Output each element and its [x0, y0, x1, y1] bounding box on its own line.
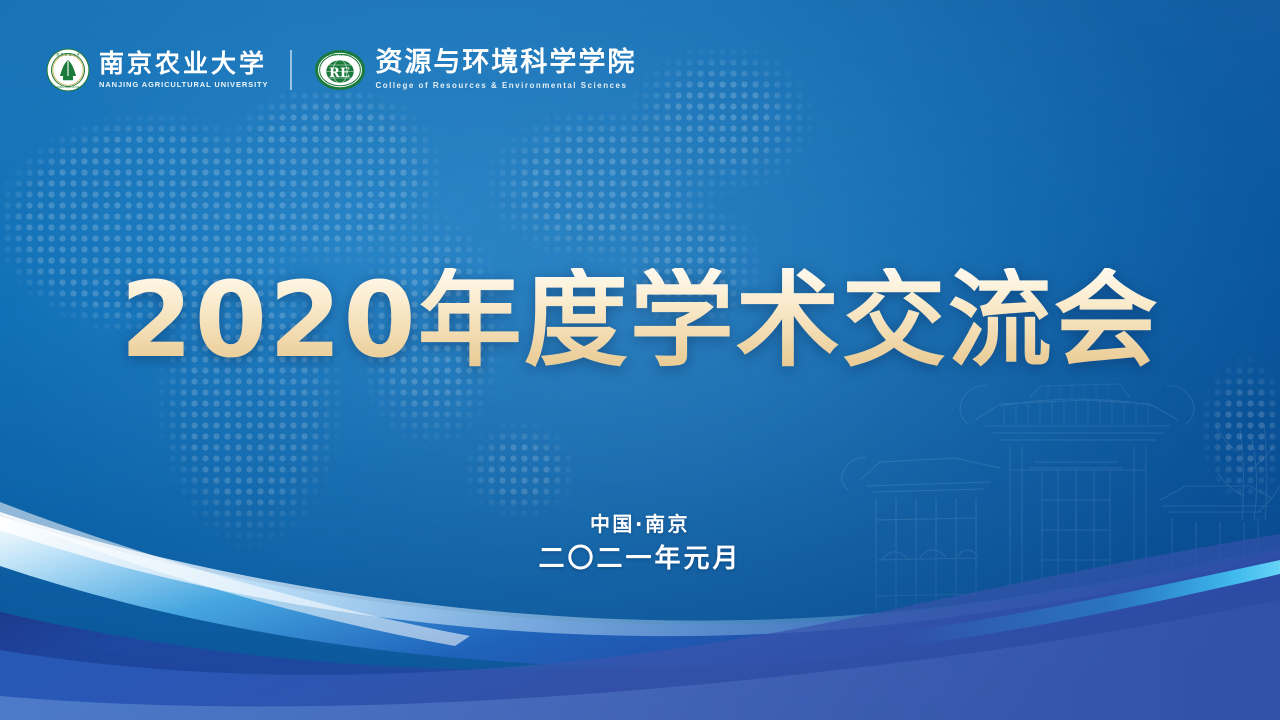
header-logos: 南 京 农 业 大 学 NANJING AGRICULTURAL 南京农业大学 …	[46, 48, 636, 92]
svg-text:E: E	[340, 66, 350, 81]
main-title-block: 2020年度学术交流会	[0, 268, 1280, 372]
college-name-en: College of Resources & Environmental Sci…	[375, 81, 636, 91]
svg-text:R: R	[329, 66, 340, 81]
logo-divider	[290, 50, 292, 90]
college-logo[interactable]: R E RESOURCES ENVIRONMENT 资源与环境科学学院 Coll…	[314, 49, 636, 91]
svg-text:南 京 农 业 大 学: 南 京 农 业 大 学	[56, 52, 79, 57]
subtitle-date: 二〇二一年元月	[0, 543, 1280, 577]
subtitle-location: 中国·南京	[0, 512, 1280, 537]
nanjing-agricultural-university-emblem-icon: 南 京 农 业 大 学 NANJING AGRICULTURAL	[46, 48, 90, 92]
svg-text:NANJING AGRICULTURAL: NANJING AGRICULTURAL	[54, 86, 83, 89]
university-logo[interactable]: 南 京 农 业 大 学 NANJING AGRICULTURAL 南京农业大学 …	[46, 48, 268, 92]
university-name-cn: 南京农业大学	[99, 51, 268, 77]
poster-slide: 南 京 农 业 大 学 NANJING AGRICULTURAL 南京农业大学 …	[0, 0, 1280, 720]
resources-environment-re-emblem-icon: R E RESOURCES ENVIRONMENT	[314, 49, 366, 91]
svg-text:RESOURCES ENVIRONMENT: RESOURCES ENVIRONMENT	[325, 54, 356, 57]
college-name-cn: 资源与环境科学学院	[375, 49, 636, 77]
university-name-en: NANJING AGRICULTURAL UNIVERSITY	[99, 80, 268, 89]
page-title: 2020年度学术交流会	[120, 268, 1159, 372]
subtitle-block: 中国·南京 二〇二一年元月	[0, 512, 1280, 577]
